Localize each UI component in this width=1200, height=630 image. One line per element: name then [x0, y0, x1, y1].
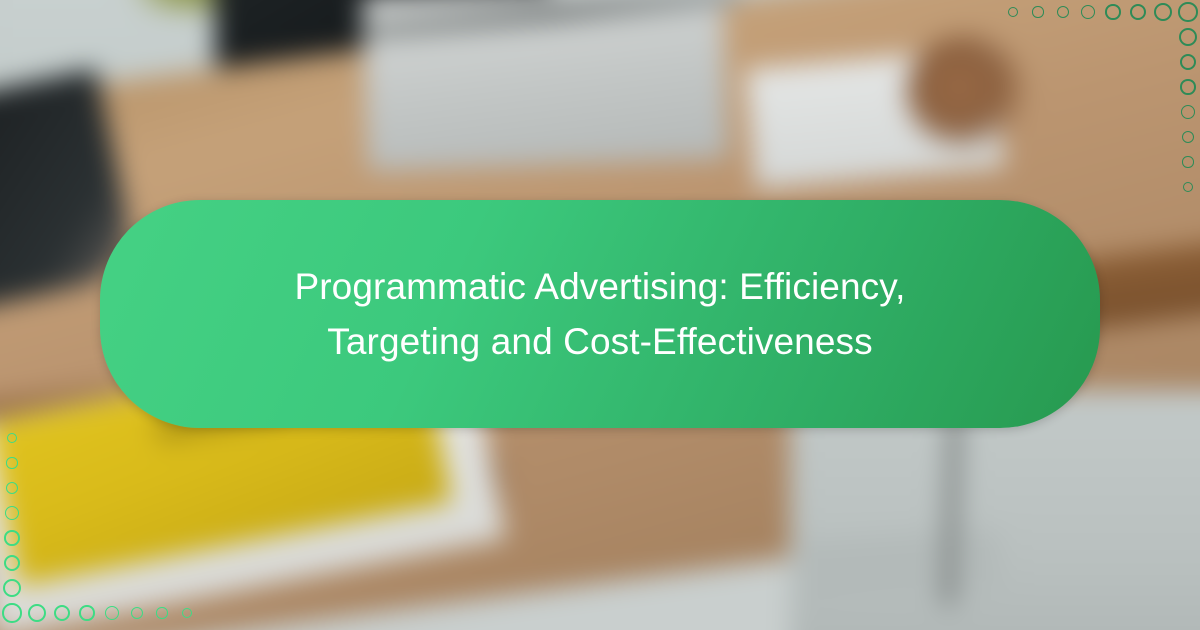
bg-mug [905, 35, 1025, 150]
decorative-circle-icon [1180, 79, 1195, 94]
decorative-circle-icon [2, 603, 21, 622]
decorative-circle-icon [182, 608, 192, 618]
title-card: Programmatic Advertising: Efficiency, Ta… [100, 200, 1100, 428]
decorative-circle-icon [1183, 182, 1193, 192]
decorative-circle-icon [5, 506, 19, 520]
decorative-circle-icon [1179, 28, 1197, 46]
decorative-circle-icon [7, 433, 17, 443]
decorative-circle-icon [1182, 156, 1193, 167]
decorative-circle-icon [1008, 7, 1018, 17]
decorative-circle-icon [1105, 4, 1120, 19]
social-card-canvas: Programmatic Advertising: Efficiency, Ta… [0, 0, 1200, 630]
page-title: Programmatic Advertising: Efficiency, Ta… [200, 259, 1000, 369]
decorative-circle-icon [1154, 3, 1172, 21]
decorative-circle-icon [1081, 5, 1095, 19]
decorative-circle-icon [28, 604, 46, 622]
decorative-circle-icon [1032, 6, 1043, 17]
decorative-circle-icon [1181, 105, 1195, 119]
decorative-circle-icon [4, 530, 19, 545]
decorative-circle-icon [105, 606, 119, 620]
decorative-circle-icon [3, 579, 21, 597]
decorative-circle-icon [156, 607, 167, 618]
decorative-circle-icon [6, 457, 17, 468]
decorative-circle-icon [1178, 2, 1197, 21]
decorative-circle-icon [79, 605, 94, 620]
